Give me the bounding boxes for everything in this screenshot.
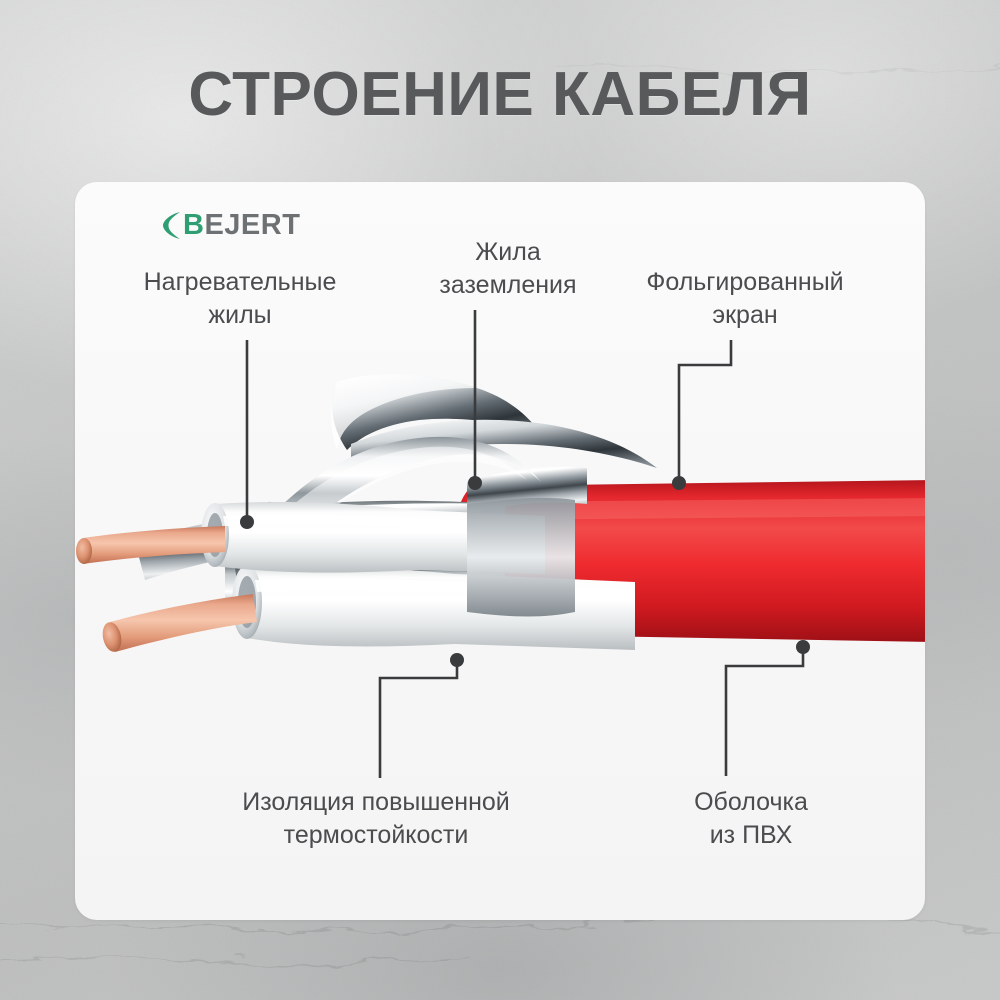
leader-line-foil-screen bbox=[679, 340, 731, 481]
leader-dot-insulation bbox=[450, 653, 464, 667]
leader-dot-pvc-sheath bbox=[796, 640, 810, 654]
page-title: СТРОЕНИЕ КАБЕЛЯ bbox=[0, 64, 1000, 126]
leader-dot-foil-screen bbox=[672, 476, 686, 490]
callout-leader-lines bbox=[75, 182, 925, 920]
diagram-card: BEJERT bbox=[75, 182, 925, 920]
leader-dot-earth-core bbox=[468, 476, 482, 490]
leader-line-insulation bbox=[380, 660, 457, 778]
leader-dot-heating-cores bbox=[240, 515, 254, 529]
leader-line-pvc-sheath bbox=[726, 647, 803, 776]
